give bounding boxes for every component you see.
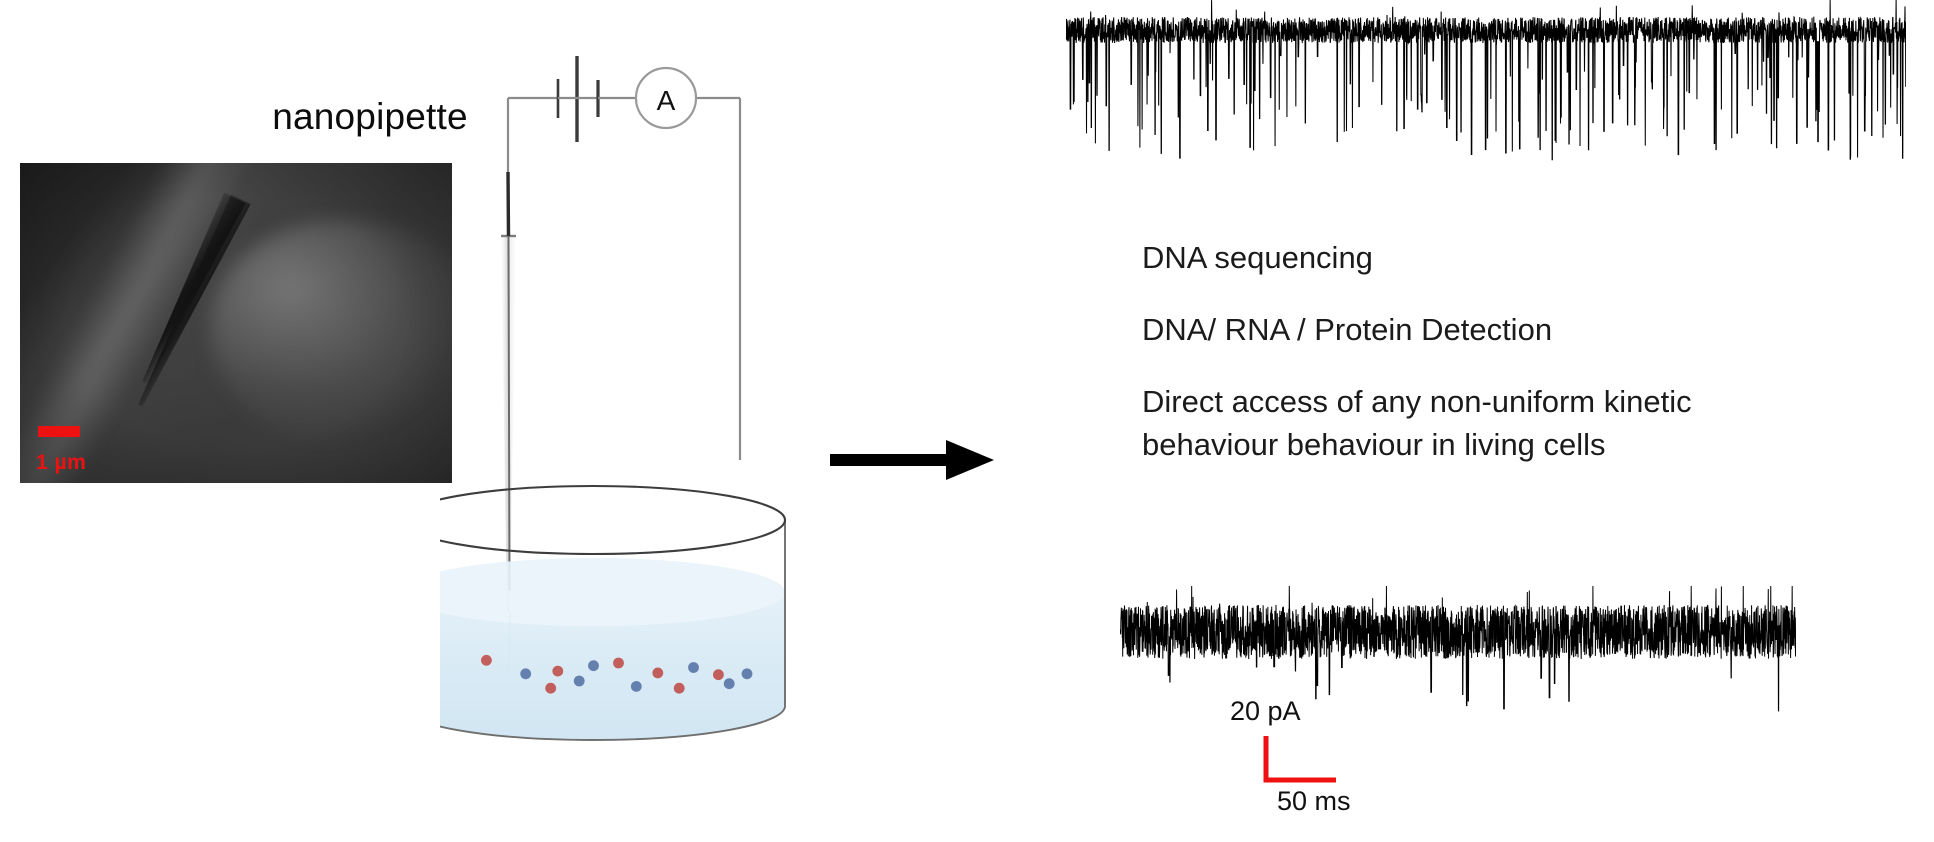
analyte-particles [440, 0, 900, 842]
scale-bar-label: 1 µm [36, 451, 86, 475]
cell-schematic: A [440, 0, 900, 842]
analyte-particle [481, 655, 492, 666]
analyte-particle [713, 669, 724, 680]
analyte-particle [742, 668, 753, 679]
list-item: DNA/ RNA / Protein Detection [1142, 308, 1882, 351]
list-item: Direct access of any non-uniform kinetic… [1142, 380, 1882, 466]
current-scale-label: 20 pA [1230, 696, 1301, 727]
figure-root: nanopipette 1 µm [0, 0, 1934, 842]
analyte-particle [588, 660, 599, 671]
trace-path [1120, 586, 1796, 711]
process-arrow [828, 428, 998, 492]
analyte-particle [613, 658, 624, 669]
ionic-current-trace-bottom [1120, 586, 1796, 718]
applications-list: DNA sequencing DNA/ RNA / Protein Detect… [1142, 236, 1882, 466]
sem-vignette [20, 163, 452, 483]
analyte-particle [574, 676, 585, 687]
trace-path [1066, 0, 1906, 160]
analyte-particle [674, 683, 685, 694]
sem-micrograph: 1 µm [20, 163, 452, 483]
analyte-particle [724, 678, 735, 689]
analyte-particle [552, 666, 563, 677]
analyte-particle [652, 668, 663, 679]
analyte-particle [520, 668, 531, 679]
trace-scale-bar-icon [1262, 734, 1342, 786]
time-scale-label: 50 ms [1277, 786, 1351, 817]
scale-bar-icon [38, 426, 80, 437]
ionic-current-trace-top [1066, 0, 1906, 210]
analyte-particle [545, 683, 556, 694]
list-item: DNA sequencing [1142, 236, 1882, 279]
analyte-particle [631, 681, 642, 692]
analyte-particle [688, 662, 699, 673]
